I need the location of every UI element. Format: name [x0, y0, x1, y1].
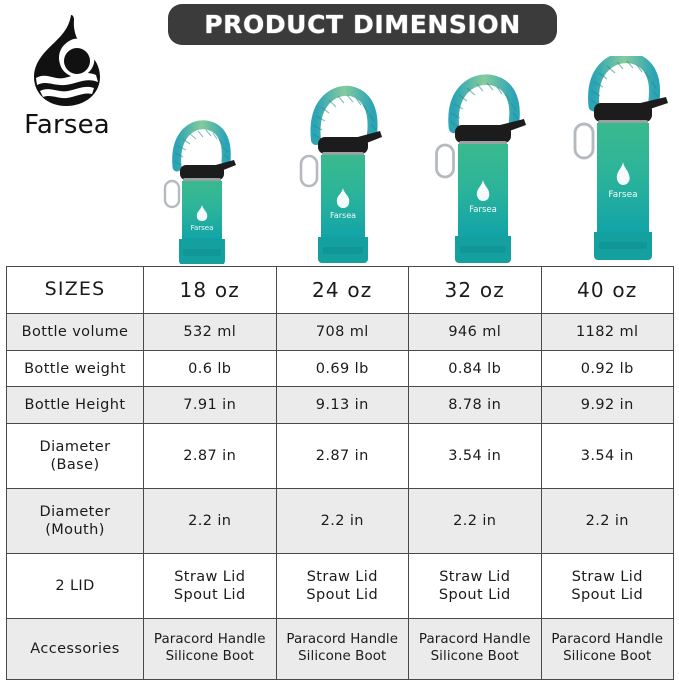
svg-text:Farsea: Farsea	[608, 190, 637, 200]
column-header-24oz: 24 oz	[276, 267, 409, 314]
brand-logo: Farsea	[12, 14, 122, 138]
header-banner: PRODUCT DIMENSION	[168, 4, 557, 45]
cell-accessories-18oz: Paracord Handle Silicone Boot	[144, 619, 277, 680]
cell-bottle-height-32oz: 8.78 in	[409, 387, 542, 424]
bottle-18oz-illustration: Farsea	[150, 109, 255, 264]
brand-name: Farsea	[12, 112, 122, 138]
cell-diameter-mouth-18oz: 2.2 in	[144, 488, 277, 553]
cell-2-lid-18oz: Straw Lid Spout Lid	[144, 554, 277, 619]
specifications-table: SIZES 18 oz 24 oz 32 oz 40 oz Bottle vol…	[6, 266, 674, 680]
cell-diameter-mouth-24oz: 2.2 in	[276, 488, 409, 553]
cell-bottle-volume-32oz: 946 ml	[409, 314, 542, 351]
bottle-24oz-image: Farsea	[286, 82, 404, 264]
row-label-2-lid: 2 LID	[7, 554, 144, 619]
table-row: Bottle volume 532 ml 708 ml 946 ml 1182 …	[7, 314, 674, 351]
svg-text:Farsea: Farsea	[330, 211, 356, 220]
water-drop-wave-logo-icon	[28, 14, 106, 110]
bottle-18oz-image: Farsea	[150, 109, 255, 264]
cell-diameter-mouth-32oz: 2.2 in	[409, 488, 542, 553]
cell-accessories-40oz: Paracord Handle Silicone Boot	[541, 619, 674, 680]
cell-bottle-volume-40oz: 1182 ml	[541, 314, 674, 351]
cell-bottle-height-24oz: 9.13 in	[276, 387, 409, 424]
table-row: Accessories Paracord Handle Silicone Boo…	[7, 619, 674, 680]
cell-2-lid-24oz: Straw Lid Spout Lid	[276, 554, 409, 619]
table-body: SIZES 18 oz 24 oz 32 oz 40 oz Bottle vol…	[7, 267, 674, 680]
product-image-row: Farsea	[150, 52, 679, 264]
cell-2-lid-32oz: Straw Lid Spout Lid	[409, 554, 542, 619]
cell-accessories-24oz: Paracord Handle Silicone Boot	[276, 619, 409, 680]
cell-bottle-volume-18oz: 532 ml	[144, 314, 277, 351]
svg-text:Farsea: Farsea	[191, 224, 214, 232]
table-row: Diameter (Base) 2.87 in 2.87 in 3.54 in …	[7, 423, 674, 488]
row-label-bottle-height: Bottle Height	[7, 387, 144, 424]
cell-diameter-mouth-40oz: 2.2 in	[541, 488, 674, 553]
table-row: Bottle Height 7.91 in 9.13 in 8.78 in 9.…	[7, 387, 674, 424]
bottle-32oz-image: Farsea	[422, 72, 548, 264]
table-row: 2 LID Straw Lid Spout Lid Straw Lid Spou…	[7, 554, 674, 619]
row-label-bottle-volume: Bottle volume	[7, 314, 144, 351]
page-title: PRODUCT DIMENSION	[204, 10, 521, 39]
row-label-bottle-weight: Bottle weight	[7, 350, 144, 387]
row-label-diameter-base: Diameter (Base)	[7, 423, 144, 488]
table-row: Diameter (Mouth) 2.2 in 2.2 in 2.2 in 2.…	[7, 488, 674, 553]
cell-bottle-weight-40oz: 0.92 lb	[541, 350, 674, 387]
product-dimension-infographic: Farsea PRODUCT DIMENSION	[0, 0, 679, 682]
column-header-40oz: 40 oz	[541, 267, 674, 314]
bottle-40oz-image: Farsea	[558, 56, 679, 264]
cell-bottle-height-40oz: 9.92 in	[541, 387, 674, 424]
bottle-40oz-illustration: Farsea	[558, 56, 679, 264]
cell-diameter-base-32oz: 3.54 in	[409, 423, 542, 488]
cell-2-lid-40oz: Straw Lid Spout Lid	[541, 554, 674, 619]
cell-bottle-weight-32oz: 0.84 lb	[409, 350, 542, 387]
table-row: Bottle weight 0.6 lb 0.69 lb 0.84 lb 0.9…	[7, 350, 674, 387]
cell-bottle-weight-18oz: 0.6 lb	[144, 350, 277, 387]
cell-diameter-base-40oz: 3.54 in	[541, 423, 674, 488]
bottle-32oz-illustration: Farsea	[422, 72, 548, 264]
cell-bottle-height-18oz: 7.91 in	[144, 387, 277, 424]
column-header-sizes: SIZES	[7, 267, 144, 314]
column-header-18oz: 18 oz	[144, 267, 277, 314]
column-header-32oz: 32 oz	[409, 267, 542, 314]
cell-diameter-base-18oz: 2.87 in	[144, 423, 277, 488]
row-label-accessories: Accessories	[7, 619, 144, 680]
bottle-24oz-illustration: Farsea	[286, 82, 404, 264]
cell-accessories-32oz: Paracord Handle Silicone Boot	[409, 619, 542, 680]
table-header-row: SIZES 18 oz 24 oz 32 oz 40 oz	[7, 267, 674, 314]
cell-diameter-base-24oz: 2.87 in	[276, 423, 409, 488]
row-label-diameter-mouth: Diameter (Mouth)	[7, 488, 144, 553]
svg-text:Farsea: Farsea	[469, 205, 497, 215]
cell-bottle-volume-24oz: 708 ml	[276, 314, 409, 351]
cell-bottle-weight-24oz: 0.69 lb	[276, 350, 409, 387]
